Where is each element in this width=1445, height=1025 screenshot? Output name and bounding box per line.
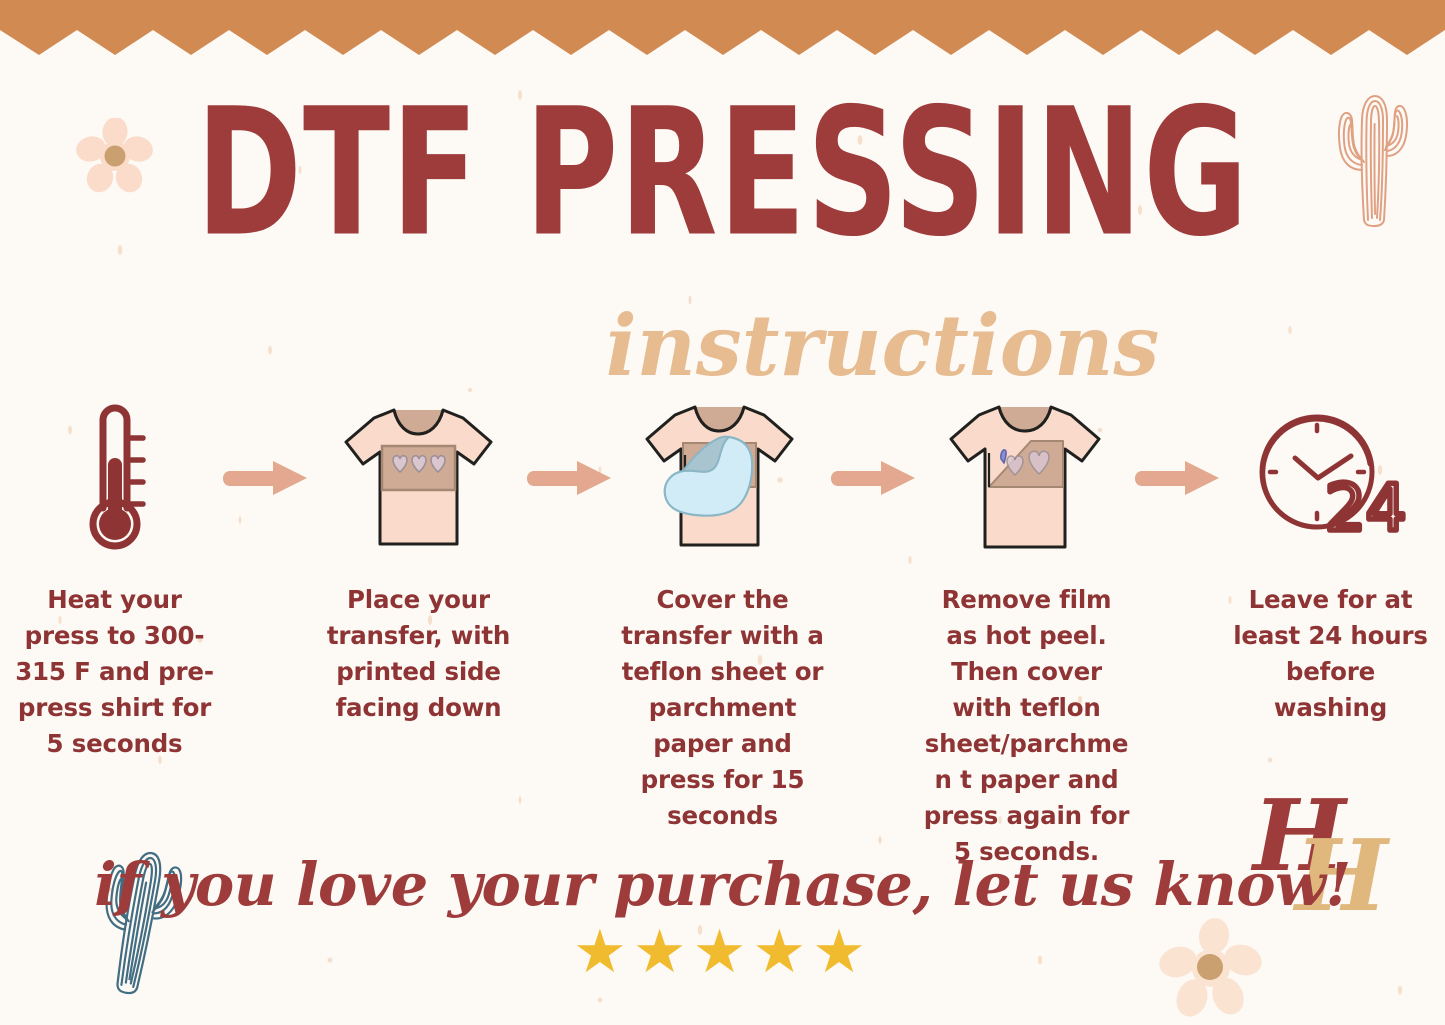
clock-24-icon: 24 (1253, 408, 1408, 548)
arrow-1-cell (219, 395, 315, 560)
step-1-text: Heat your press to 300-315 F and pre-pre… (11, 582, 219, 762)
step-5-text: Leave for at least 24 hours before washi… (1227, 582, 1435, 726)
step-2-icon-wrap (315, 395, 523, 560)
step-3-text: Cover the transfer with a teflon sheet o… (619, 582, 827, 834)
arrow-2-cell (523, 395, 619, 560)
steps-row: Heat your press to 300-315 F and pre-pre… (0, 395, 1445, 835)
title-block: DTF PRESSING instructions (0, 86, 1445, 356)
arrow-4-cell (1131, 395, 1227, 560)
tshirt-peel-film-icon (939, 395, 1114, 560)
arrow-right-icon (527, 458, 615, 498)
step-5: 24 Leave for at least 24 hours before wa… (1227, 395, 1435, 726)
star-rating: ★★★★★ (0, 922, 1445, 982)
thermometer-icon (76, 398, 154, 558)
arrow-right-icon (1135, 458, 1223, 498)
arrow-3-cell (827, 395, 923, 560)
top-decorative-band (0, 0, 1445, 58)
page-title: DTF PRESSING (72, 86, 1373, 262)
page-subtitle: instructions (182, 304, 1445, 388)
step-5-icon-wrap: 24 (1227, 395, 1435, 560)
tshirt-teflon-sheet-icon (635, 395, 810, 560)
zigzag-band-shape (0, 0, 1445, 55)
step-4-icon-wrap (923, 395, 1131, 560)
step-1-icon-wrap (11, 395, 219, 560)
arrow-right-icon (831, 458, 919, 498)
tshirt-transfer-icon (336, 398, 501, 558)
footer-block: if you love your purchase, let us know! … (0, 852, 1445, 982)
step-2: Place your transfer, with printed side f… (315, 395, 523, 726)
arrow-right-icon (223, 458, 311, 498)
step-3: Cover the transfer with a teflon sheet o… (619, 395, 827, 834)
clock-24-label: 24 (1325, 472, 1406, 546)
step-1: Heat your press to 300-315 F and pre-pre… (11, 395, 219, 762)
footer-tagline: if you love your purchase, let us know! (0, 852, 1445, 918)
step-2-text: Place your transfer, with printed side f… (315, 582, 523, 726)
step-4-text: Remove film as hot peel. Then cover with… (923, 582, 1131, 870)
step-4: Remove film as hot peel. Then cover with… (923, 395, 1131, 870)
step-3-icon-wrap (619, 395, 827, 560)
